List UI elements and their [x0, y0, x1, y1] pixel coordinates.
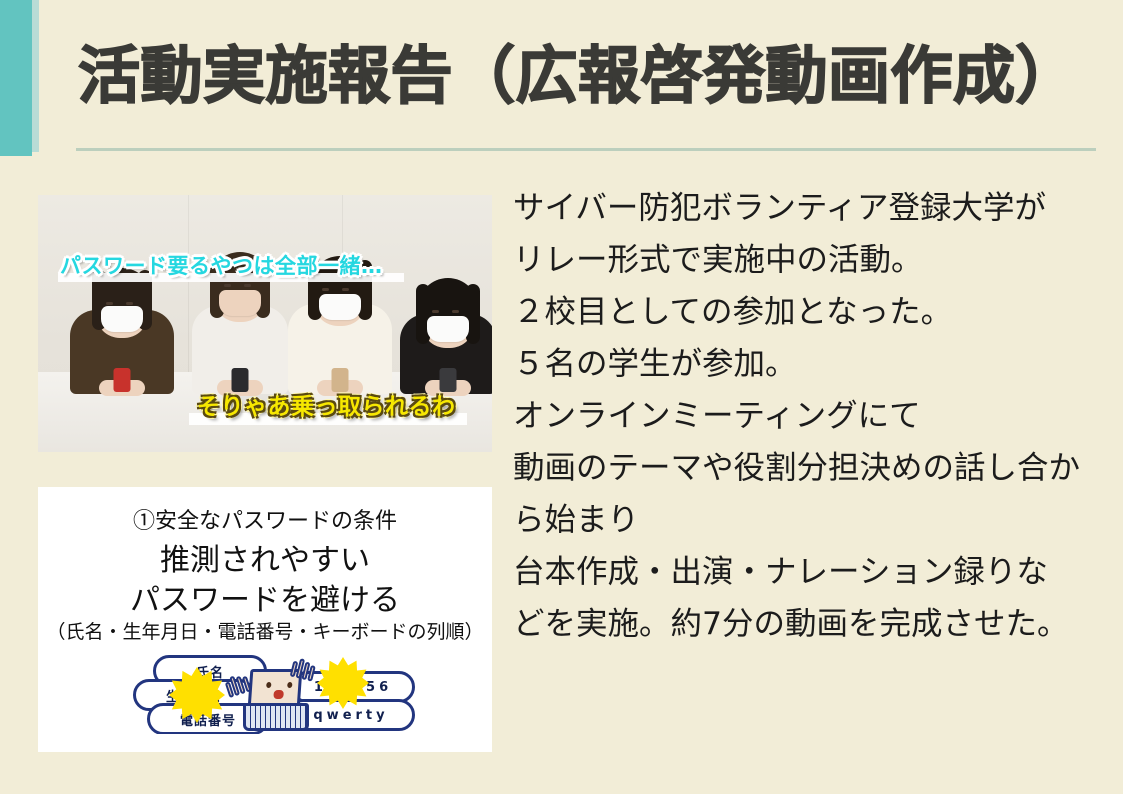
password-slide-line-3: パスワードを避ける — [38, 575, 492, 619]
person-eye-r — [126, 302, 133, 305]
caption-bottom: そりゃあ乗っ取られるわ — [197, 387, 456, 421]
accent-bar-left — [0, 0, 32, 156]
body-line-2: リレー形式で実施中の活動。 — [513, 234, 1113, 286]
laptop-face — [265, 680, 292, 700]
photo-person-4 — [398, 260, 492, 394]
body-line-4: ５名の学生が参加。 — [513, 338, 1113, 390]
page-title: 活動実施報告（広報啓発動画作成） — [78, 32, 1068, 120]
person-eye-l — [432, 310, 439, 313]
person-eye-l — [322, 288, 329, 291]
person-eye-l — [106, 302, 113, 305]
person-eye-l — [224, 284, 231, 287]
laptop-keyboard — [243, 703, 309, 731]
person-face-mask — [101, 306, 143, 332]
video-still-photo: パスワード要るやつは全部一緒… そりゃあ乗っ取られるわ — [38, 195, 492, 452]
accent-bar-left-soft — [32, 0, 39, 152]
title-divider — [76, 148, 1096, 151]
body-line-5: オンラインミーティングにて — [513, 390, 1113, 442]
body-text-block: サイバー防犯ボランティア登録大学が リレー形式で実施中の活動。 ２校目としての参… — [513, 182, 1113, 650]
password-slide-image: ①安全なパスワードの条件 推測されやすい パスワードを避ける （氏名・生年月日・… — [38, 487, 492, 752]
body-line-8: 台本作成・出演・ナレーション録りな — [513, 546, 1113, 598]
body-line-9: どを実施。約7分の動画を完成させた。 — [513, 598, 1113, 650]
password-slide-line-2: 推測されやすい — [38, 535, 492, 579]
body-line-7: ら始まり — [513, 494, 1113, 546]
person-eye-r — [244, 284, 251, 287]
caption-top: パスワード要るやつは全部一緒… — [60, 250, 383, 280]
password-illustration: 氏名 生年月日 電話番号 123456 qwerty — [131, 655, 413, 745]
person-face-mask — [319, 294, 361, 320]
password-slide-line-4: （氏名・生年月日・電話番号・キーボードの列順） — [38, 617, 492, 644]
person-hair-side-r — [466, 284, 480, 344]
slide-root: 活動実施報告（広報啓発動画作成） サイバー防犯ボランティア登録大学が リレー形式… — [0, 0, 1123, 794]
person-phone — [114, 368, 131, 392]
password-slide-bottom-margin — [38, 734, 492, 752]
person-eye-r — [452, 310, 459, 313]
person-face-mask — [427, 316, 469, 342]
password-slide-line-1: ①安全なパスワードの条件 — [38, 503, 492, 535]
body-line-6: 動画のテーマや役割分担決めの話し合か — [513, 442, 1113, 494]
laptop-eye-left — [266, 682, 271, 688]
body-line-3: ２校目としての参加となった。 — [513, 286, 1113, 338]
body-line-1: サイバー防犯ボランティア登録大学が — [513, 182, 1113, 234]
laptop-mouth — [273, 690, 284, 699]
person-face-mask — [219, 290, 261, 316]
person-eye-r — [342, 288, 349, 291]
